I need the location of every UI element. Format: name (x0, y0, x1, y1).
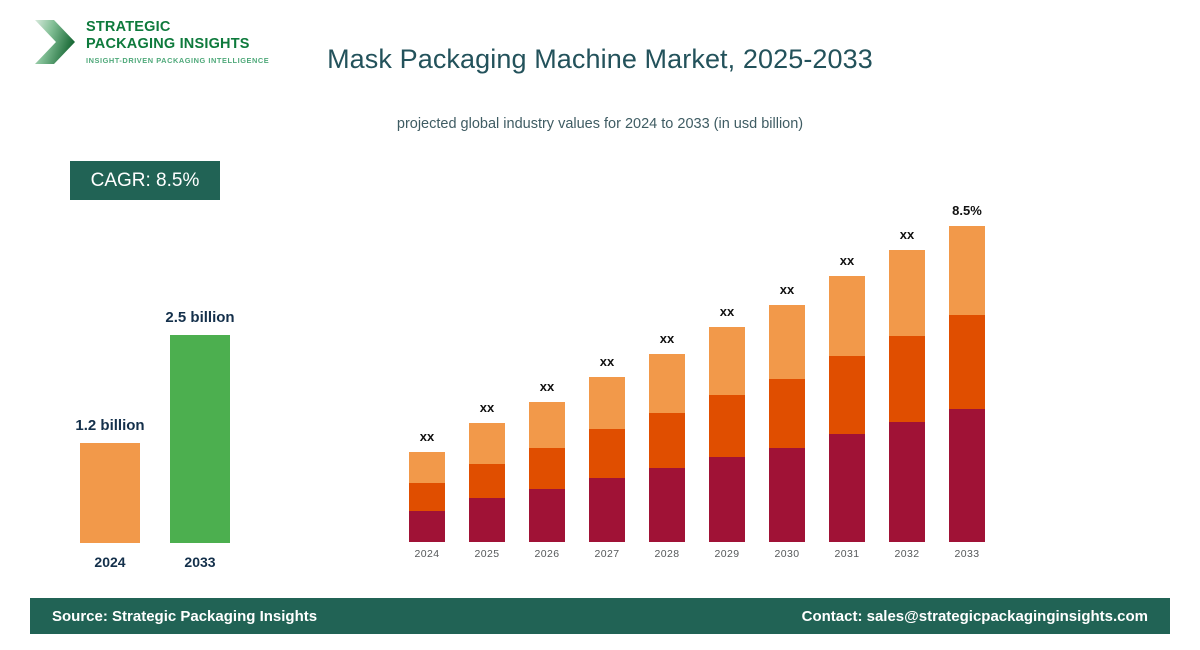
stacked-category-label: 2033 (955, 548, 980, 560)
cagr-badge: CAGR: 8.5% (70, 161, 220, 200)
stacked-category-label: 2025 (475, 548, 500, 560)
stacked-segment-segment-1 (829, 434, 865, 542)
comparison-bar-chart: 1.2 billion 2024 2.5 billion 2033 (60, 300, 290, 570)
comparison-value-label: 2.5 billion (165, 309, 234, 326)
stacked-category-label: 2032 (895, 548, 920, 560)
stacked-value-label: xx (840, 253, 854, 268)
stacked-segment-segment-2 (889, 336, 925, 422)
comparison-bar (80, 443, 140, 543)
stacked-segment-segment-1 (469, 498, 505, 542)
stacked-bar (529, 402, 565, 542)
stacked-segment-segment-2 (769, 379, 805, 448)
stacked-segment-segment-2 (409, 483, 445, 511)
stacked-bar (829, 276, 865, 542)
stacked-column-2027: xx2027 (587, 200, 627, 560)
stacked-category-label: 2029 (715, 548, 740, 560)
footer-source: Source: Strategic Packaging Insights (52, 608, 317, 625)
stacked-segment-segment-3 (709, 327, 745, 394)
stacked-column-2030: xx2030 (767, 200, 807, 560)
stacked-segment-segment-3 (889, 250, 925, 336)
stacked-value-label: xx (480, 400, 494, 415)
stacked-category-label: 2024 (415, 548, 440, 560)
stacked-segment-segment-3 (469, 423, 505, 463)
footer-contact: Contact: sales@strategicpackaginginsight… (802, 608, 1148, 625)
page-title: Mask Packaging Machine Market, 2025-2033 (0, 44, 1200, 75)
page-subtitle: projected global industry values for 202… (0, 116, 1200, 132)
comparison-category-label: 2024 (94, 554, 125, 570)
stacked-column-2031: xx2031 (827, 200, 867, 560)
comparison-value-label: 1.2 billion (75, 417, 144, 434)
stacked-value-label: 8.5% (952, 203, 982, 218)
stacked-bar (709, 327, 745, 542)
stacked-segment-segment-2 (829, 356, 865, 433)
stacked-category-label: 2027 (595, 548, 620, 560)
stacked-segment-segment-2 (949, 315, 985, 408)
stacked-value-label: xx (780, 282, 794, 297)
stacked-bar (769, 305, 805, 542)
stacked-segment-segment-3 (529, 402, 565, 448)
stacked-segment-segment-1 (589, 478, 625, 542)
stacked-value-label: xx (600, 354, 614, 369)
stacked-category-label: 2028 (655, 548, 680, 560)
stacked-category-label: 2030 (775, 548, 800, 560)
stacked-bar (469, 423, 505, 542)
stacked-segment-segment-1 (769, 448, 805, 542)
stacked-category-label: 2031 (835, 548, 860, 560)
stacked-segment-segment-1 (949, 409, 985, 542)
stacked-segment-segment-3 (589, 377, 625, 429)
stacked-segment-segment-1 (409, 511, 445, 542)
stacked-bar (889, 250, 925, 542)
stacked-segment-segment-2 (709, 395, 745, 458)
stacked-segment-segment-1 (649, 468, 685, 542)
comparison-bar (170, 335, 230, 543)
stacked-bar (949, 226, 985, 542)
stacked-column-2029: xx2029 (707, 200, 747, 560)
stacked-column-2026: xx2026 (527, 200, 567, 560)
stacked-column-2033: 8.5%2033 (947, 200, 987, 560)
stacked-value-label: xx (420, 429, 434, 444)
stacked-segment-segment-1 (889, 422, 925, 542)
stacked-value-label: xx (900, 227, 914, 242)
stacked-segment-segment-2 (529, 448, 565, 489)
stacked-segment-segment-1 (529, 489, 565, 542)
comparison-column-2033: 2.5 billion 2033 (170, 309, 230, 570)
logo-line-1: STRATEGIC (86, 19, 269, 35)
stacked-column-2028: xx2028 (647, 200, 687, 560)
stacked-segment-segment-3 (649, 354, 685, 413)
comparison-category-label: 2033 (184, 554, 215, 570)
stacked-value-label: xx (720, 304, 734, 319)
stacked-column-2024: xx2024 (407, 200, 447, 560)
stacked-segment-segment-3 (949, 226, 985, 316)
stacked-segment-segment-2 (469, 464, 505, 499)
stacked-category-label: 2026 (535, 548, 560, 560)
stacked-bar-chart: xx2024xx2025xx2026xx2027xx2028xx2029xx20… (405, 200, 1005, 560)
stacked-bar (589, 377, 625, 542)
stacked-column-2032: xx2032 (887, 200, 927, 560)
stacked-segment-segment-3 (769, 305, 805, 379)
comparison-column-2024: 1.2 billion 2024 (80, 417, 140, 570)
stacked-value-label: xx (660, 331, 674, 346)
stacked-segment-segment-2 (649, 413, 685, 468)
stacked-segment-segment-2 (589, 429, 625, 478)
stacked-bar (409, 452, 445, 542)
stacked-segment-segment-3 (409, 452, 445, 483)
stacked-segment-segment-1 (709, 457, 745, 542)
stacked-value-label: xx (540, 379, 554, 394)
stacked-segment-segment-3 (829, 276, 865, 356)
footer-bar: Source: Strategic Packaging Insights Con… (30, 598, 1170, 634)
stacked-column-2025: xx2025 (467, 200, 507, 560)
stacked-bar (649, 354, 685, 542)
